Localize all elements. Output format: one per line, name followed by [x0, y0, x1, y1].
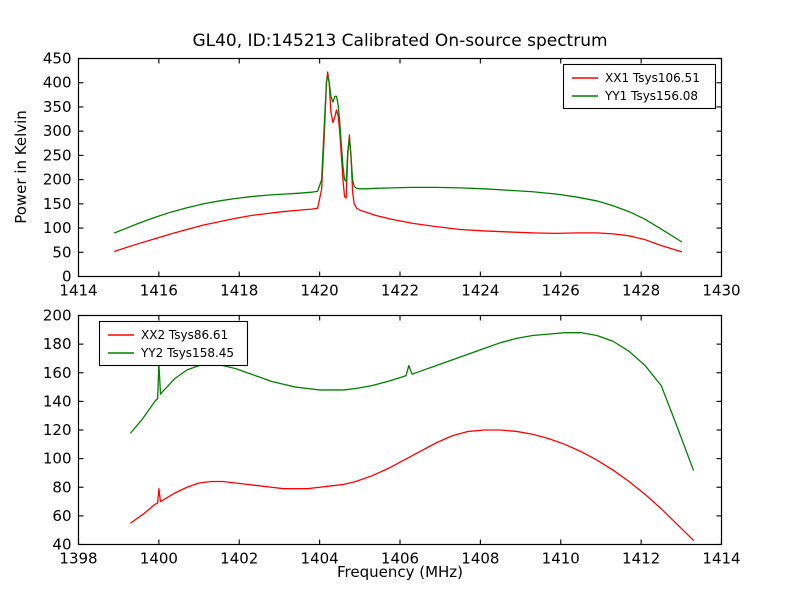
x-tick-label: 1402 [220, 550, 258, 568]
y-tick-label: 100 [43, 219, 72, 237]
y-tick-label: 50 [52, 243, 71, 261]
x-tick-label: 1418 [220, 282, 258, 300]
y-tick-label: 300 [43, 122, 72, 140]
x-tick-label: 1428 [622, 282, 660, 300]
x-tick-label: 1410 [542, 550, 580, 568]
y-tick-label: 40 [52, 536, 71, 554]
y-tick-label: 450 [43, 50, 72, 68]
y-tick-label: 100 [43, 450, 72, 468]
x-tick-label: 1416 [140, 282, 178, 300]
x-tick-label: 1404 [301, 550, 339, 568]
bottom-panel-xlabel: Frequency (MHz) [337, 563, 463, 581]
x-tick-label: 1414 [702, 550, 740, 568]
x-tick-label: 1430 [702, 282, 740, 300]
x-tick-label: 1422 [381, 282, 419, 300]
bottom-panel-legend[interactable]: XX2 Tsys86.61 YY2 Tsys158.45 [100, 322, 248, 366]
y-tick-label: 350 [43, 98, 72, 116]
x-tick-label: 1400 [140, 550, 178, 568]
y-tick-label: 160 [43, 364, 72, 382]
top-panel-legend[interactable]: XX1 Tsys106.51 YY1 Tsys156.08 [564, 65, 716, 109]
spectrum-figure: GL40, ID:145213 Calibrated On-source spe… [0, 0, 800, 600]
y-tick-label: 120 [43, 421, 72, 439]
y-tick-label: 80 [52, 478, 71, 496]
page-title: GL40, ID:145213 Calibrated On-source spe… [192, 31, 607, 51]
y-tick-label: 150 [43, 195, 72, 213]
y-tick-label: 60 [52, 507, 71, 525]
x-tick-label: 1424 [461, 282, 499, 300]
legend-label-xx2: XX2 Tsys86.61 [141, 328, 228, 342]
y-tick-label: 140 [43, 392, 72, 410]
y-tick-label: 200 [43, 171, 72, 189]
y-tick-label: 180 [43, 335, 72, 353]
x-tick-label: 1426 [542, 282, 580, 300]
legend-label-yy1: YY1 Tsys156.08 [604, 89, 698, 103]
legend-label-xx1: XX1 Tsys106.51 [605, 71, 700, 85]
y-tick-label: 0 [62, 268, 72, 286]
y-tick-label: 400 [43, 74, 72, 92]
x-tick-label: 1420 [301, 282, 339, 300]
y-tick-label: 200 [43, 307, 72, 325]
legend-label-yy2: YY2 Tsys158.45 [140, 346, 234, 360]
x-tick-label: 1408 [461, 550, 499, 568]
x-tick-label: 1412 [622, 550, 660, 568]
top-panel-ylabel: Power in Kelvin [12, 110, 30, 224]
y-tick-label: 250 [43, 146, 72, 164]
